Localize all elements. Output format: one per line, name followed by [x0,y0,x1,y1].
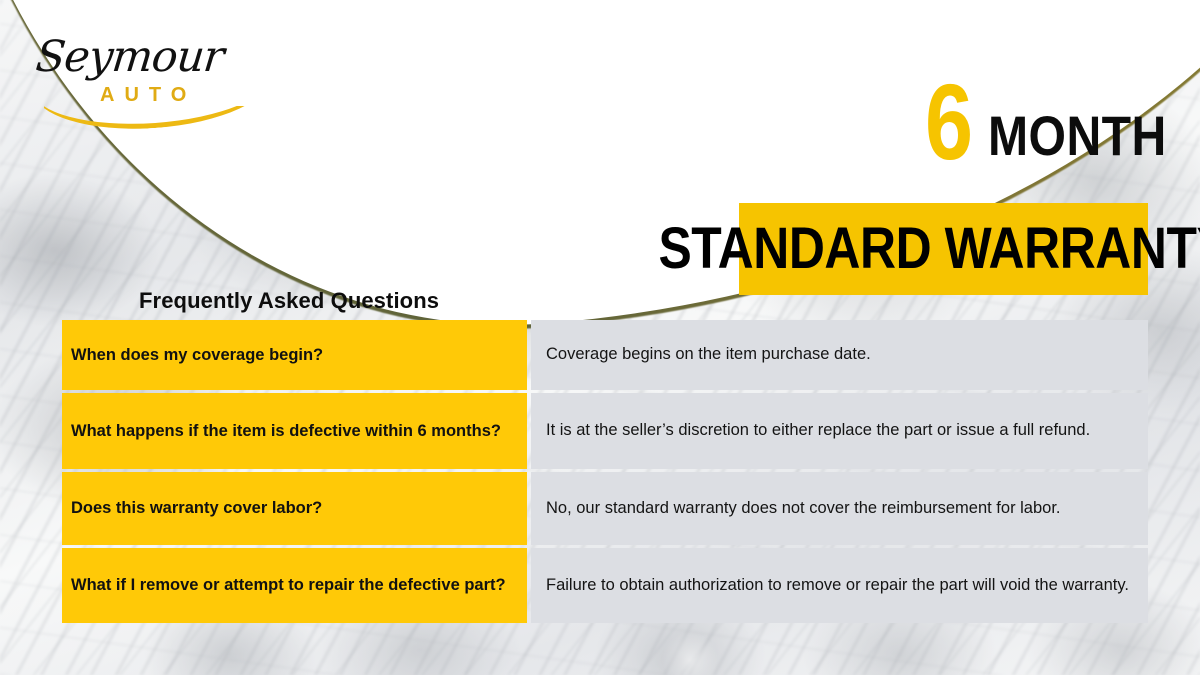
warranty-slide: Seymour AUTO 6 MONTH STANDARD WARRANTY F… [0,0,1200,675]
faq-question-cell: What happens if the item is defective wi… [62,393,527,469]
faq-answer-text: No, our standard warranty does not cover… [546,498,1134,519]
faq-answer-text: Coverage begins on the item purchase dat… [546,344,1134,365]
faq-question-text: Does this warranty cover labor? [71,498,322,519]
faq-question-text: What happens if the item is defective wi… [71,421,501,442]
standard-warranty-banner: STANDARD WARRANTY [739,203,1148,295]
standard-warranty-title: STANDARD WARRANTY [658,220,1200,278]
table-row: What if I remove or attempt to repair th… [62,548,1148,623]
table-row: When does my coverage begin? Coverage be… [62,320,1148,390]
faq-answer-text: Failure to obtain authorization to remov… [546,575,1134,596]
faq-answer-cell: Failure to obtain authorization to remov… [531,548,1148,623]
faq-table: When does my coverage begin? Coverage be… [62,320,1148,623]
faq-question-cell: Does this warranty cover labor? [62,472,527,545]
logo-swoosh-icon [44,106,256,132]
faq-question-text: When does my coverage begin? [71,345,323,366]
duration-headline: 6 MONTH [925,78,1196,167]
table-row: What happens if the item is defective wi… [62,393,1148,469]
duration-unit: MONTH [988,109,1167,162]
faq-answer-cell: No, our standard warranty does not cover… [531,472,1148,545]
faq-question-text: What if I remove or attempt to repair th… [71,575,506,596]
seymour-auto-logo: Seymour AUTO [28,22,258,132]
duration-number: 6 [925,78,971,167]
faq-answer-cell: It is at the seller’s discretion to eith… [531,393,1148,469]
logo-script-text: Seymour [34,36,226,79]
table-row: Does this warranty cover labor? No, our … [62,472,1148,545]
faq-answer-cell: Coverage begins on the item purchase dat… [531,320,1148,390]
faq-question-cell: When does my coverage begin? [62,320,527,390]
logo-auto-text: AUTO [100,84,196,107]
faq-question-cell: What if I remove or attempt to repair th… [62,548,527,623]
faq-answer-text: It is at the seller’s discretion to eith… [546,420,1134,441]
faq-heading: Frequently Asked Questions [139,288,439,314]
